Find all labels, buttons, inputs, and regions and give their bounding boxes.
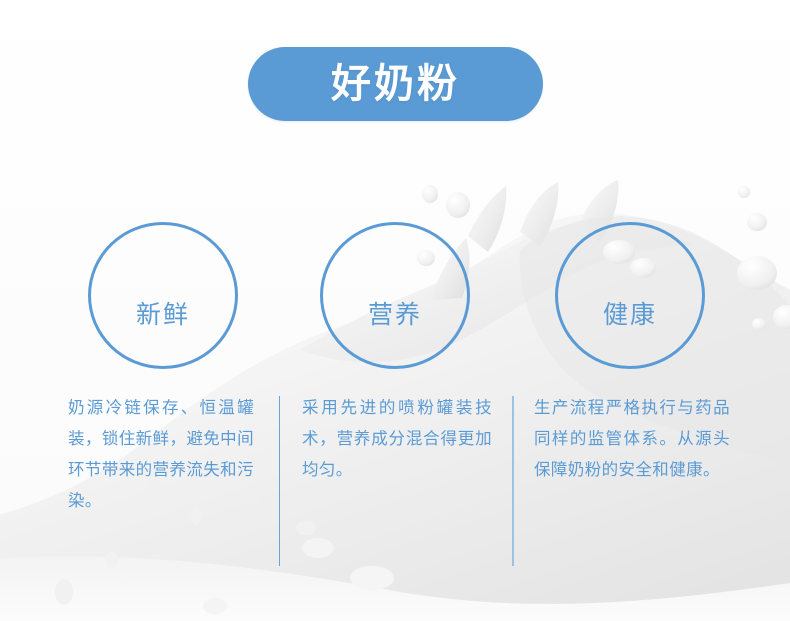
feature-circle-nutrition: 营养 [320, 222, 470, 369]
promo-banner: 好奶粉 新鲜 营养 健康 奶源冷链保存、恒温罐装，锁住新鲜，避免中间环节带来的营… [0, 0, 790, 621]
title-banner: 好奶粉 [248, 47, 543, 121]
feature-description-nutrition: 采用先进的喷粉罐装技术，营养成分混合得更加均匀。 [302, 392, 492, 485]
feature-description-fresh: 奶源冷链保存、恒温罐装，锁住新鲜，避免中间环节带来的营养流失和污染。 [68, 392, 254, 516]
feature-circle-label: 健康 [603, 302, 657, 327]
column-divider [279, 396, 280, 566]
feature-circle-health: 健康 [555, 222, 705, 369]
feature-circle-fresh: 新鲜 [88, 222, 238, 369]
feature-circle-label: 营养 [368, 302, 422, 327]
page-title: 好奶粉 [331, 64, 460, 104]
feature-circle-label: 新鲜 [136, 302, 190, 327]
column-divider [512, 396, 514, 566]
feature-description-health: 生产流程严格执行与药品同样的监管体系。从源头保障奶粉的安全和健康。 [534, 392, 730, 485]
